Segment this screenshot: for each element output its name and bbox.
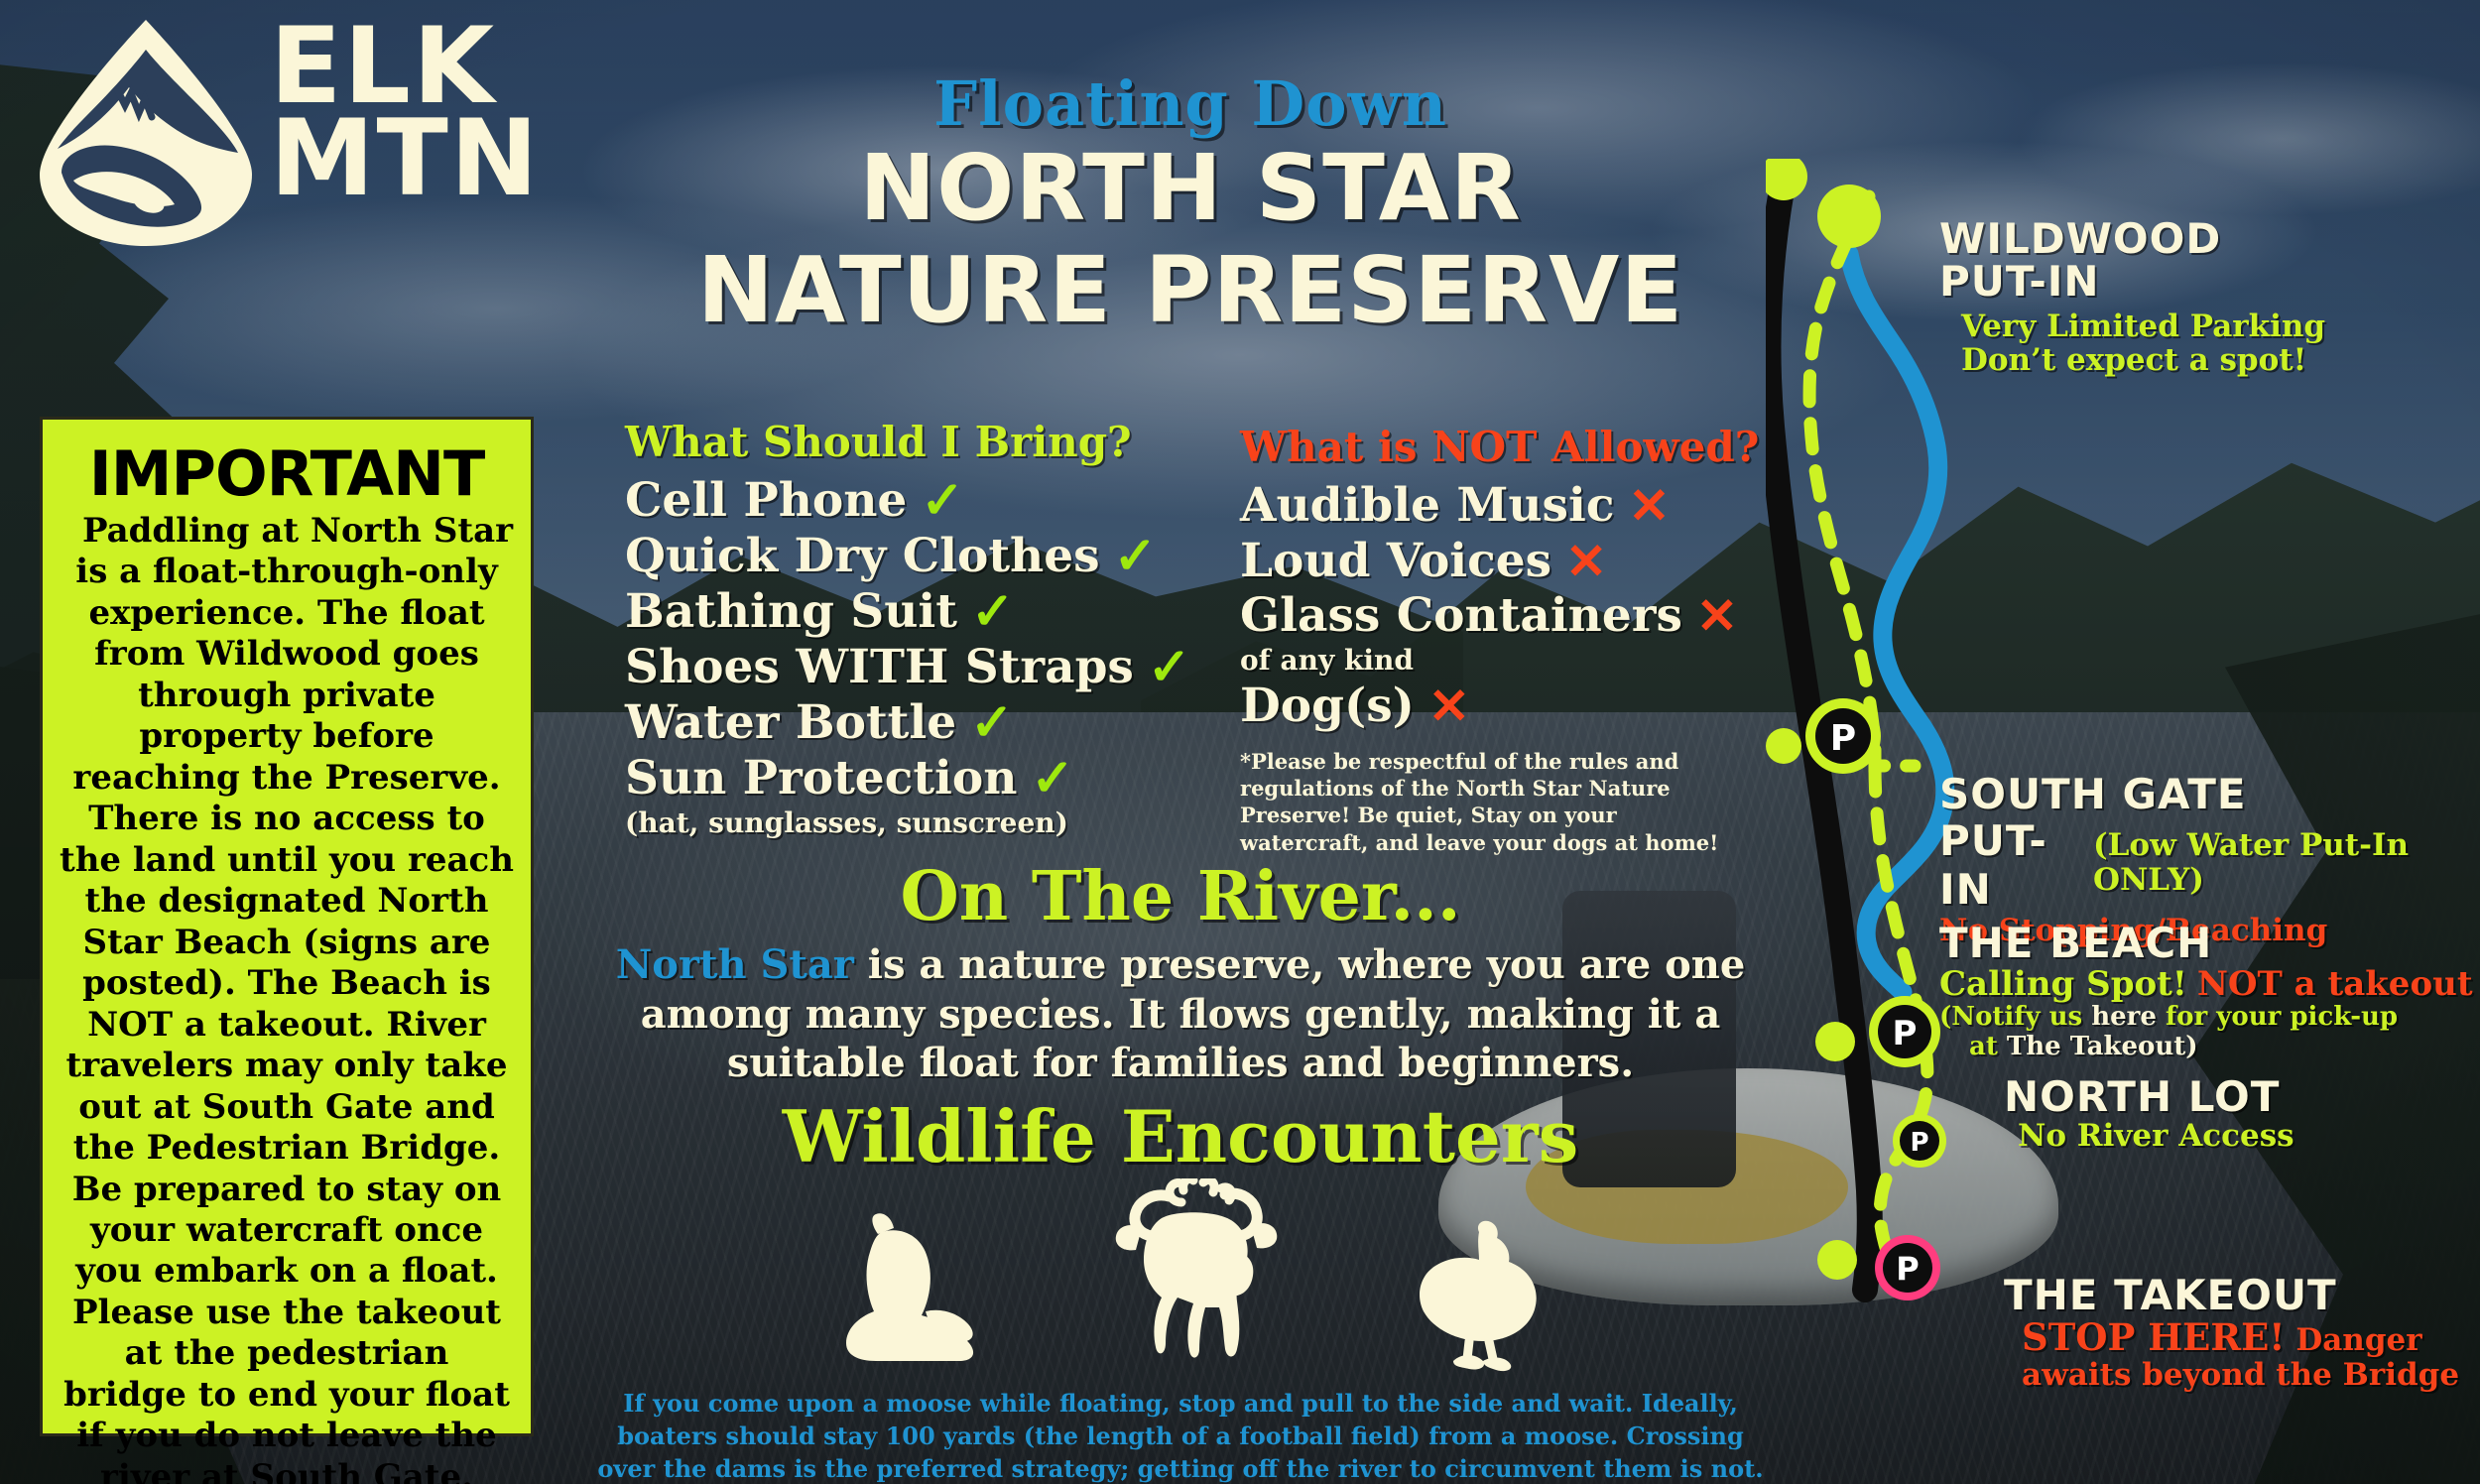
- what-to-bring-section: What Should I Bring? Cell Phone ✓ Quick …: [625, 422, 1220, 839]
- wildlife-note: If you come upon a moose while floating,…: [595, 1387, 1766, 1484]
- stop-bad-note: NOT a takeout: [2197, 965, 2473, 1003]
- stop-warning-line-2: awaits beyond the Bridge: [2022, 1358, 2459, 1393]
- bring-item: Cell Phone ✓: [625, 475, 1220, 527]
- stop-name-line-1: NORTH LOT: [2004, 1076, 2294, 1119]
- not-allowed-fine-print: *Please be respectful of the rules and r…: [1240, 748, 1726, 856]
- map-dot-wildwood: [1817, 185, 1881, 248]
- warn-strong: STOP HERE!: [2022, 1315, 2286, 1359]
- title-line-2: NATURE PRESERVE: [595, 243, 1786, 339]
- important-heading: IMPORTANT: [59, 443, 515, 505]
- bring-item-label: Water Bottle: [625, 697, 956, 749]
- stop-pickup-note-line-1: (Notify us here for your pick-up: [1939, 1003, 2473, 1033]
- important-panel: IMPORTANT Paddling at North Star is a fl…: [40, 417, 534, 1436]
- not-allowed-item-label: Loud Voices: [1240, 536, 1551, 587]
- stop-name-line-1: SOUTH GATE: [1939, 774, 2480, 816]
- bring-item: Sun Protection ✓: [625, 753, 1220, 804]
- bring-item-label: Sun Protection: [625, 753, 1017, 804]
- bring-item: Quick Dry Clothes ✓: [625, 531, 1220, 582]
- wildlife-heading: Wildlife Encounters: [595, 1101, 1766, 1173]
- bring-sub-note: (hat, sunglasses, sunscreen): [625, 806, 1220, 839]
- brand-wordmark: ELK MTN: [270, 20, 541, 205]
- stop-name-line-2: PUT-IN: [1939, 261, 2325, 304]
- river-path: [1849, 254, 1945, 992]
- pickup-note-takeout: The Takeout): [2007, 1032, 2198, 1061]
- map-dot: [1815, 1022, 1855, 1061]
- not-allowed-item-label: Dog(s): [1240, 680, 1415, 732]
- water-droplet-mountain-icon: [22, 14, 270, 252]
- brand-line-2: MTN: [270, 112, 541, 204]
- elk-mtn-logo[interactable]: ELK MTN: [22, 14, 538, 252]
- check-icon: ✓: [970, 697, 1014, 749]
- on-the-river-highlight: North Star: [616, 941, 854, 988]
- map-label-north-lot: NORTH LOT No River Access: [2004, 1076, 2294, 1154]
- stop-name-line-1: THE TAKEOUT: [2004, 1275, 2459, 1317]
- bring-item: Water Bottle ✓: [625, 697, 1220, 749]
- stop-sub-2: Don’t expect a spot!: [1961, 343, 2325, 378]
- parking-letter: P: [1893, 1014, 1918, 1053]
- stop-name-line-1: WILDWOOD: [1939, 218, 2325, 261]
- parking-letter: P: [1896, 1250, 1919, 1288]
- not-allowed-item: Audible Music ✕: [1240, 480, 1855, 532]
- cross-icon: ✕: [1428, 681, 1470, 731]
- cross-icon: ✕: [1696, 591, 1738, 641]
- moose-icon: [1066, 1178, 1324, 1377]
- bring-heading: What Should I Bring?: [625, 422, 1220, 463]
- pickup-note-at: at: [1969, 1032, 2007, 1061]
- infographic-poster: ELK MTN IMPORTANT Paddling at North Star…: [0, 0, 2480, 1484]
- on-the-river-section: On The River... North Star is a nature p…: [595, 863, 1766, 1088]
- stop-name-line-2: PUT-IN: [1939, 816, 2081, 914]
- map-label-the-beach: THE BEACH Calling Spot! NOT a takeout (N…: [1939, 923, 2473, 1062]
- pickup-note-a: (Notify us: [1939, 1002, 2091, 1032]
- stop-sub-1: Very Limited Parking: [1961, 309, 2325, 344]
- check-icon: ✓: [1148, 642, 1191, 693]
- map-dot: [1817, 1240, 1857, 1280]
- pickup-note-c: for your pick-up: [2157, 1002, 2398, 1032]
- bring-item-label: Cell Phone: [625, 475, 907, 527]
- bring-item: Shoes WITH Straps ✓: [625, 642, 1220, 693]
- not-allowed-section: What is NOT Allowed? Audible Music ✕ Lou…: [1240, 427, 1855, 856]
- bring-item-label: Bathing Suit: [625, 586, 957, 638]
- on-the-river-heading: On The River...: [595, 863, 1766, 930]
- bring-item-label: Shoes WITH Straps: [625, 642, 1134, 693]
- stop-inline-note: (Low Water Put-In ONLY): [2093, 828, 2480, 897]
- bring-item-label: Quick Dry Clothes: [625, 531, 1100, 582]
- not-allowed-item: Dog(s) ✕: [1240, 680, 1855, 732]
- important-body: Paddling at North Star is a float-throug…: [59, 511, 515, 1484]
- title-subtitle: Floating Down: [595, 73, 1786, 135]
- check-icon: ✓: [1031, 753, 1074, 804]
- title-line-1: NORTH STAR: [595, 141, 1786, 237]
- check-icon: ✓: [921, 475, 964, 527]
- not-allowed-item-label: Glass Containers: [1240, 590, 1682, 642]
- map-label-the-takeout: THE TAKEOUT STOP HERE! Danger awaits bey…: [2004, 1275, 2459, 1393]
- cross-icon: ✕: [1565, 537, 1607, 586]
- stop-pickup-note-line-2: at The Takeout): [1969, 1033, 2473, 1062]
- bird-icon: [1384, 1218, 1543, 1377]
- stop-name-line-1: THE BEACH: [1939, 923, 2473, 965]
- bring-item: Bathing Suit ✓: [625, 586, 1220, 638]
- beaver-icon: [818, 1208, 1007, 1377]
- not-allowed-heading: What is NOT Allowed?: [1240, 427, 1855, 468]
- pickup-note-here: here: [2091, 1002, 2157, 1032]
- check-icon: ✓: [971, 586, 1015, 638]
- map-label-wildwood: WILDWOOD PUT-IN Very Limited Parking Don…: [1939, 218, 2325, 378]
- check-icon: ✓: [1114, 531, 1158, 582]
- wildlife-section: Wildlife Encounters: [595, 1101, 1766, 1484]
- wildlife-icon-row: [595, 1188, 1766, 1377]
- stop-warning-line-1: STOP HERE! Danger: [2022, 1317, 2459, 1358]
- on-the-river-body: North Star is a nature preserve, where y…: [595, 940, 1766, 1088]
- not-allowed-sub-note: of any kind: [1240, 644, 1855, 677]
- warn-rest: Danger: [2286, 1322, 2422, 1358]
- poster-title: Floating Down NORTH STAR NATURE PRESERVE: [595, 73, 1786, 338]
- parking-letter: P: [1910, 1128, 1928, 1158]
- stop-good-note: Calling Spot!: [1939, 965, 2187, 1003]
- stop-sub: No River Access: [2018, 1119, 2294, 1154]
- cross-icon: ✕: [1628, 481, 1670, 531]
- not-allowed-item: Glass Containers ✕: [1240, 590, 1855, 642]
- not-allowed-item: Loud Voices ✕: [1240, 536, 1855, 587]
- not-allowed-item-label: Audible Music: [1240, 480, 1614, 532]
